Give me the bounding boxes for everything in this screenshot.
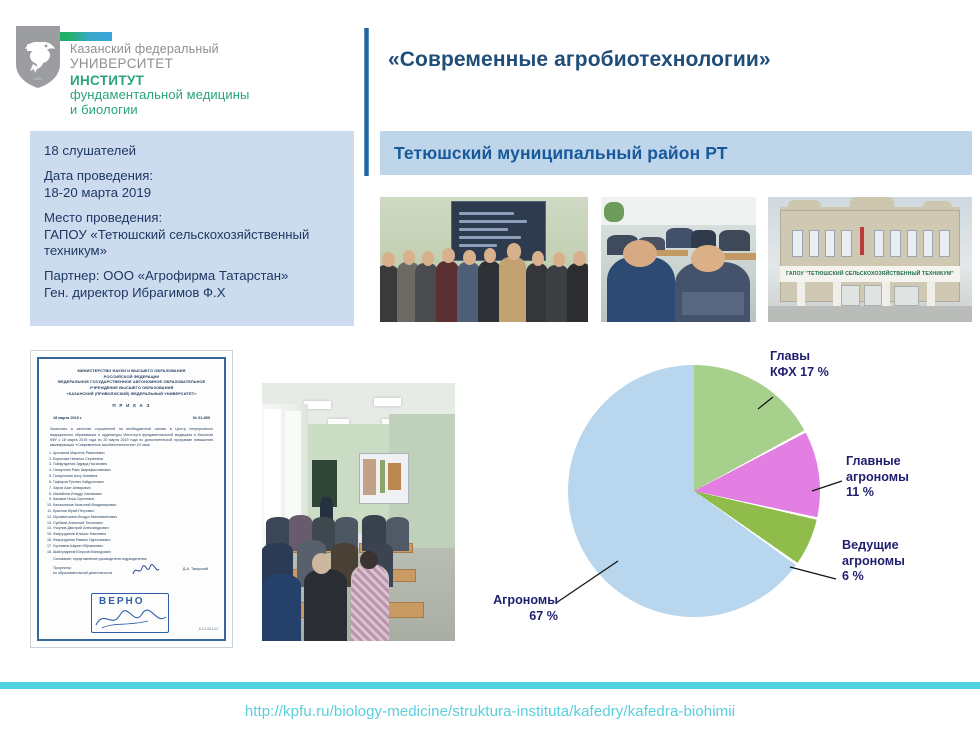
- subtitle-banner: Тетюшский муниципальный район РТ: [380, 131, 972, 175]
- document-note: Основание: представление руководителя по…: [39, 557, 224, 561]
- building-door: [864, 285, 882, 306]
- building-column: [927, 282, 935, 306]
- building-window: [923, 230, 933, 258]
- event-director-value: Ген. директор Ибрагимов Ф.Х: [44, 285, 340, 302]
- building-column: [797, 282, 805, 306]
- pie-graphic: [568, 365, 820, 617]
- document-header: МИНИСТЕРСТВО НАУКИ И ВЫСШЕГО ОБРАЗОВАНИЯ…: [39, 368, 224, 396]
- building-window: [907, 230, 917, 258]
- signature-icon: [131, 563, 161, 577]
- ground: [768, 306, 972, 322]
- participants-pie-chart: Главы КФХ 17 % Главные агрономы 11 % Вед…: [470, 335, 980, 665]
- pie-label-line: 6 %: [842, 569, 905, 585]
- kfu-logo: 1804 Казанский федеральный УНИВЕРСИТЕТ И…: [14, 16, 344, 106]
- logo-line-4: фундаментальной медицины: [70, 88, 350, 103]
- building-window: [939, 230, 949, 258]
- document-number: № 01-899: [193, 416, 210, 420]
- person-figure: [666, 228, 694, 248]
- stamp-text: ВЕРНО: [99, 596, 145, 607]
- kfu-zilant-shield-icon: 1804: [14, 24, 62, 90]
- projector-screen-icon: [359, 453, 409, 505]
- event-venue: Место проведения: ГАПОУ «Тетюшский сельс…: [44, 210, 340, 261]
- building-column: [833, 282, 841, 306]
- lecture-photo: [262, 383, 455, 641]
- subtitle-text: Тетюшский муниципальный район РТ: [380, 143, 728, 164]
- person-figure: [380, 265, 399, 323]
- document-signer-title: Проректор по образовательной деятельност…: [53, 566, 112, 577]
- pattern-dress: [351, 564, 390, 641]
- pie-label-line: 67 %: [470, 609, 558, 625]
- event-partner-value: Партнер: ООО «Агрофирма Татарстан»: [44, 268, 340, 285]
- person-figure: [436, 261, 459, 322]
- pie-label-agronomy: Агрономы 67 %: [470, 593, 558, 624]
- stamp-signature-icon: [92, 607, 169, 631]
- person-head: [442, 248, 454, 263]
- person-head: [422, 251, 434, 266]
- building-door: [894, 286, 918, 306]
- building-sign: ГАПОУ "ТЕТЮШСКИЙ СЕЛЬСКОХОЗЯЙСТВЕННЫЙ ТЕ…: [780, 266, 960, 282]
- logo-line-5: и биологии: [70, 103, 350, 118]
- pie-label-glavnye-agronomy: Главные агрономы 11 %: [846, 454, 909, 501]
- pie-label-line: агрономы: [842, 554, 905, 570]
- title-accent-bar: [364, 28, 369, 176]
- logo-line-3: ИНСТИТУТ: [70, 73, 350, 88]
- event-info-box: 18 слушателей Дата проведения: 18-20 мар…: [30, 131, 354, 326]
- person-figure: [499, 257, 526, 322]
- person-figure: [415, 263, 438, 322]
- document-code: К.1.2.43-1-01: [199, 627, 218, 631]
- plant-icon: [604, 202, 624, 222]
- event-partner: Партнер: ООО «Агрофирма Татарстан» Ген. …: [44, 268, 340, 302]
- event-date-label: Дата проведения:: [44, 168, 340, 185]
- building-column: [882, 282, 890, 306]
- logo-gradient-bar: [56, 32, 112, 41]
- building-sign-text: ГАПОУ "ТЕТЮШСКИЙ СЕЛЬСКОХОЗЯЙСТВЕННЫЙ ТЕ…: [786, 271, 954, 277]
- order-document-scan: МИНИСТЕРСТВО НАУКИ И ВЫСШЕГО ОБРАЗОВАНИЯ…: [30, 350, 233, 648]
- lamp-icon: [374, 398, 401, 406]
- document-name-list: Арсланов Марсель Рамилевич Борисова Ната…: [39, 451, 224, 556]
- person-figure: [546, 265, 569, 323]
- person-head: [573, 251, 585, 266]
- building-window: [809, 230, 819, 258]
- document-page: МИНИСТЕРСТВО НАУКИ И ВЫСШЕГО ОБРАЗОВАНИЯ…: [37, 357, 226, 641]
- flag-icon: [860, 227, 864, 255]
- pie-label-glavy-kfh: Главы КФХ 17 %: [770, 349, 829, 380]
- pattern-sweater: [682, 292, 744, 315]
- building-door: [841, 285, 859, 306]
- event-venue-value: ГАПОУ «Тетюшский сельскохозяйственный те…: [44, 227, 340, 261]
- page-title: «Современные агробиотехнологии»: [388, 48, 958, 72]
- person-head: [360, 551, 377, 569]
- person-head: [507, 243, 522, 259]
- person-figure: [526, 263, 549, 322]
- person-head: [382, 252, 394, 267]
- logo-wordmark: Казанский федеральный УНИВЕРСИТЕТ ИНСТИТ…: [70, 42, 350, 117]
- logo-line-2: УНИВЕРСИТЕТ: [70, 56, 350, 71]
- person-figure: [262, 574, 301, 641]
- pie-label-line: Главы: [770, 349, 829, 365]
- pie-label-vedushchie-agronomy: Ведущие агрономы 6 %: [842, 538, 905, 585]
- event-date-value: 18-20 марта 2019: [44, 185, 340, 202]
- building-window: [874, 230, 884, 258]
- person-figure: [304, 569, 346, 641]
- document-body: Зачислить в качестве слушателей на внебю…: [39, 427, 224, 449]
- building-window: [825, 230, 835, 258]
- document-order-word: П Р И К А З: [39, 403, 224, 408]
- logo-line-1: Казанский федеральный: [70, 42, 350, 56]
- event-date: Дата проведения: 18-20 марта 2019: [44, 168, 340, 202]
- document-signer-name: Д.А. Таюрский: [183, 567, 208, 571]
- document-body-text: Зачислить в качестве слушателей на внебю…: [50, 427, 213, 449]
- pie-label-line: 11 %: [846, 485, 909, 501]
- person-figure: [567, 263, 588, 322]
- building-window: [792, 230, 802, 258]
- pie-label-line: агрономы: [846, 470, 909, 486]
- svg-text:1804: 1804: [34, 76, 44, 81]
- person-head: [623, 240, 657, 268]
- person-head: [553, 252, 565, 267]
- screen-text-lines: [459, 212, 538, 252]
- attendees-count: 18 слушателей: [44, 143, 340, 160]
- person-head: [532, 251, 544, 266]
- event-venue-label: Место проведения:: [44, 210, 340, 227]
- person-head: [403, 250, 415, 265]
- person-head: [691, 245, 725, 273]
- person-head: [463, 250, 475, 265]
- building-window: [890, 230, 900, 258]
- pie-label-line: КФХ 17 %: [770, 365, 829, 381]
- document-header-line: «КАЗАНСКИЙ (ПРИВОЛЖСКИЙ) ФЕДЕРАЛЬНЫЙ УНИ…: [39, 391, 224, 397]
- person-figure: [457, 262, 480, 322]
- document-date: 18 марта 2019 г.: [53, 416, 82, 420]
- slide-canvas: 1804 Казанский федеральный УНИВЕРСИТЕТ И…: [0, 0, 980, 735]
- building-window: [841, 230, 851, 258]
- person-figure: [719, 230, 750, 251]
- window: [285, 411, 300, 525]
- footer-url[interactable]: http://kpfu.ru/biology-medicine/struktur…: [0, 703, 980, 720]
- person-figure: [478, 261, 501, 322]
- group-photo: [380, 197, 588, 322]
- document-meta: 18 марта 2019 г. № 01-899: [39, 416, 224, 420]
- window: [264, 409, 281, 528]
- pie-label-line: Агрономы: [470, 593, 558, 609]
- lamp-icon: [304, 401, 331, 409]
- verification-stamp: ВЕРНО: [91, 593, 169, 633]
- document-name-item: Шайхутдинов Юнусов Мансурович: [53, 550, 224, 556]
- pie-label-line: Ведущие: [842, 538, 905, 554]
- classroom-photo: [601, 197, 756, 322]
- pie-label-line: Главные: [846, 454, 909, 470]
- footer-divider: [0, 682, 980, 689]
- building-photo: ГАПОУ "ТЕТЮШСКИЙ СЕЛЬСКОХОЗЯЙСТВЕННЫЙ ТЕ…: [768, 197, 972, 322]
